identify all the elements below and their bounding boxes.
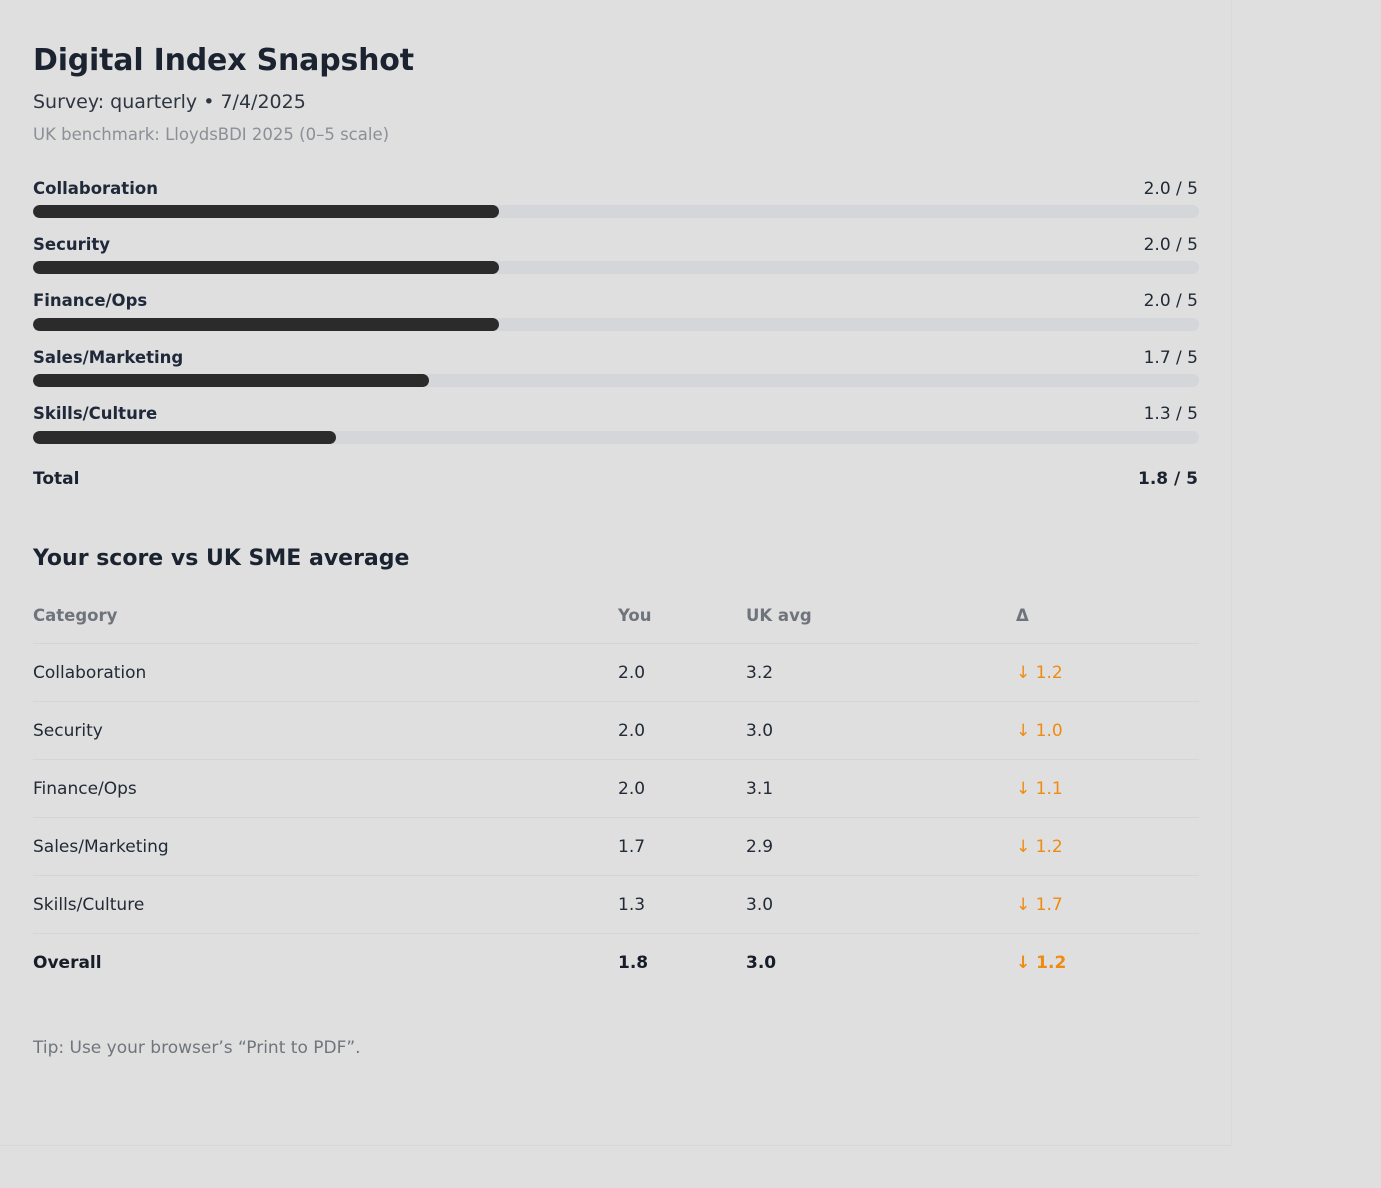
score-bar-track <box>33 374 1199 387</box>
score-bar-track <box>33 431 1199 444</box>
table-row: Skills/Culture 1.3 3.0 ↓ 1.7 <box>33 875 1199 933</box>
cell-you: 1.7 <box>618 817 746 875</box>
table-header-row: Category You UK avg Δ <box>33 606 1199 644</box>
score-bar-fill <box>33 205 499 218</box>
cell-you: 1.8 <box>618 933 746 991</box>
table-row: Finance/Ops 2.0 3.1 ↓ 1.1 <box>33 759 1199 817</box>
cell-uk-avg: 3.0 <box>746 701 1016 759</box>
score-bar-head: Security 2.0 / 5 <box>33 235 1198 255</box>
delta-value: ↓ 1.1 <box>1016 779 1063 799</box>
delta-value: ↓ 1.2 <box>1016 953 1066 973</box>
score-bar-value: 1.3 / 5 <box>1144 404 1198 424</box>
score-bar-head: Sales/Marketing 1.7 / 5 <box>33 348 1198 368</box>
score-bar-label: Collaboration <box>33 179 158 199</box>
cell-delta: ↓ 1.2 <box>1016 933 1199 991</box>
cell-delta: ↓ 1.2 <box>1016 643 1199 701</box>
column-header-category: Category <box>33 606 618 644</box>
score-bar-label: Security <box>33 235 110 255</box>
delta-value: ↓ 1.7 <box>1016 895 1063 915</box>
score-bar-track <box>33 205 1199 218</box>
column-header-uk-avg: UK avg <box>746 606 1016 644</box>
score-bar-list: Collaboration 2.0 / 5 Security 2.0 / 5 <box>33 179 1198 489</box>
delta-value: ↓ 1.2 <box>1016 837 1063 857</box>
cell-delta: ↓ 1.0 <box>1016 701 1199 759</box>
column-header-delta: Δ <box>1016 606 1199 644</box>
score-bar-row: Finance/Ops 2.0 / 5 <box>33 291 1198 330</box>
score-bar-head: Collaboration 2.0 / 5 <box>33 179 1198 199</box>
cell-category: Overall <box>33 933 618 991</box>
score-bar-fill <box>33 374 429 387</box>
score-bar-track <box>33 261 1199 274</box>
cell-uk-avg: 3.1 <box>746 759 1016 817</box>
cell-category: Security <box>33 701 618 759</box>
cell-uk-avg: 2.9 <box>746 817 1016 875</box>
score-bar-label: Sales/Marketing <box>33 348 183 368</box>
cell-uk-avg: 3.2 <box>746 643 1016 701</box>
score-bar-fill <box>33 431 336 444</box>
cell-you: 2.0 <box>618 643 746 701</box>
score-bar-row: Sales/Marketing 1.7 / 5 <box>33 348 1198 387</box>
benchmark-note: UK benchmark: LloydsBDI 2025 (0–5 scale) <box>33 125 1198 145</box>
delta-value: ↓ 1.0 <box>1016 721 1063 741</box>
total-label: Total <box>33 469 79 489</box>
delta-value: ↓ 1.2 <box>1016 663 1063 683</box>
cell-delta: ↓ 1.1 <box>1016 759 1199 817</box>
score-bar-row: Collaboration 2.0 / 5 <box>33 179 1198 218</box>
cell-delta: ↓ 1.2 <box>1016 817 1199 875</box>
score-bar-value: 2.0 / 5 <box>1144 179 1198 199</box>
score-bar-row: Security 2.0 / 5 <box>33 235 1198 274</box>
cell-delta: ↓ 1.7 <box>1016 875 1199 933</box>
cell-category: Collaboration <box>33 643 618 701</box>
report-card: Digital Index Snapshot Survey: quarterly… <box>0 0 1232 1146</box>
score-bar-row: Skills/Culture 1.3 / 5 <box>33 404 1198 443</box>
cell-category: Finance/Ops <box>33 759 618 817</box>
score-bar-fill <box>33 261 499 274</box>
column-header-you: You <box>618 606 746 644</box>
table-row-overall: Overall 1.8 3.0 ↓ 1.2 <box>33 933 1199 991</box>
page-title: Digital Index Snapshot <box>33 44 1198 77</box>
cell-uk-avg: 3.0 <box>746 933 1016 991</box>
score-bar-head: Skills/Culture 1.3 / 5 <box>33 404 1198 424</box>
score-bar-fill <box>33 318 499 331</box>
cell-category: Skills/Culture <box>33 875 618 933</box>
score-bar-label: Finance/Ops <box>33 291 147 311</box>
score-bar-value: 2.0 / 5 <box>1144 235 1198 255</box>
table-row: Sales/Marketing 1.7 2.9 ↓ 1.2 <box>33 817 1199 875</box>
page-root: Digital Index Snapshot Survey: quarterly… <box>0 0 1381 1188</box>
score-bar-value: 1.7 / 5 <box>1144 348 1198 368</box>
score-bar-track <box>33 318 1199 331</box>
survey-subtitle: Survey: quarterly • 7/4/2025 <box>33 91 1198 114</box>
score-bar-value: 2.0 / 5 <box>1144 291 1198 311</box>
comparison-table: Category You UK avg Δ Collaboration 2.0 … <box>33 606 1199 991</box>
score-bar-head: Finance/Ops 2.0 / 5 <box>33 291 1198 311</box>
cell-you: 1.3 <box>618 875 746 933</box>
cell-uk-avg: 3.0 <box>746 875 1016 933</box>
print-tip: Tip: Use your browser’s “Print to PDF”. <box>33 1038 1198 1058</box>
cell-you: 2.0 <box>618 759 746 817</box>
table-row: Security 2.0 3.0 ↓ 1.0 <box>33 701 1199 759</box>
total-value: 1.8 / 5 <box>1138 469 1198 489</box>
comparison-section-title: Your score vs UK SME average <box>33 546 1198 572</box>
cell-category: Sales/Marketing <box>33 817 618 875</box>
total-score-row: Total 1.8 / 5 <box>33 469 1198 489</box>
cell-you: 2.0 <box>618 701 746 759</box>
score-bar-label: Skills/Culture <box>33 404 157 424</box>
table-row: Collaboration 2.0 3.2 ↓ 1.2 <box>33 643 1199 701</box>
